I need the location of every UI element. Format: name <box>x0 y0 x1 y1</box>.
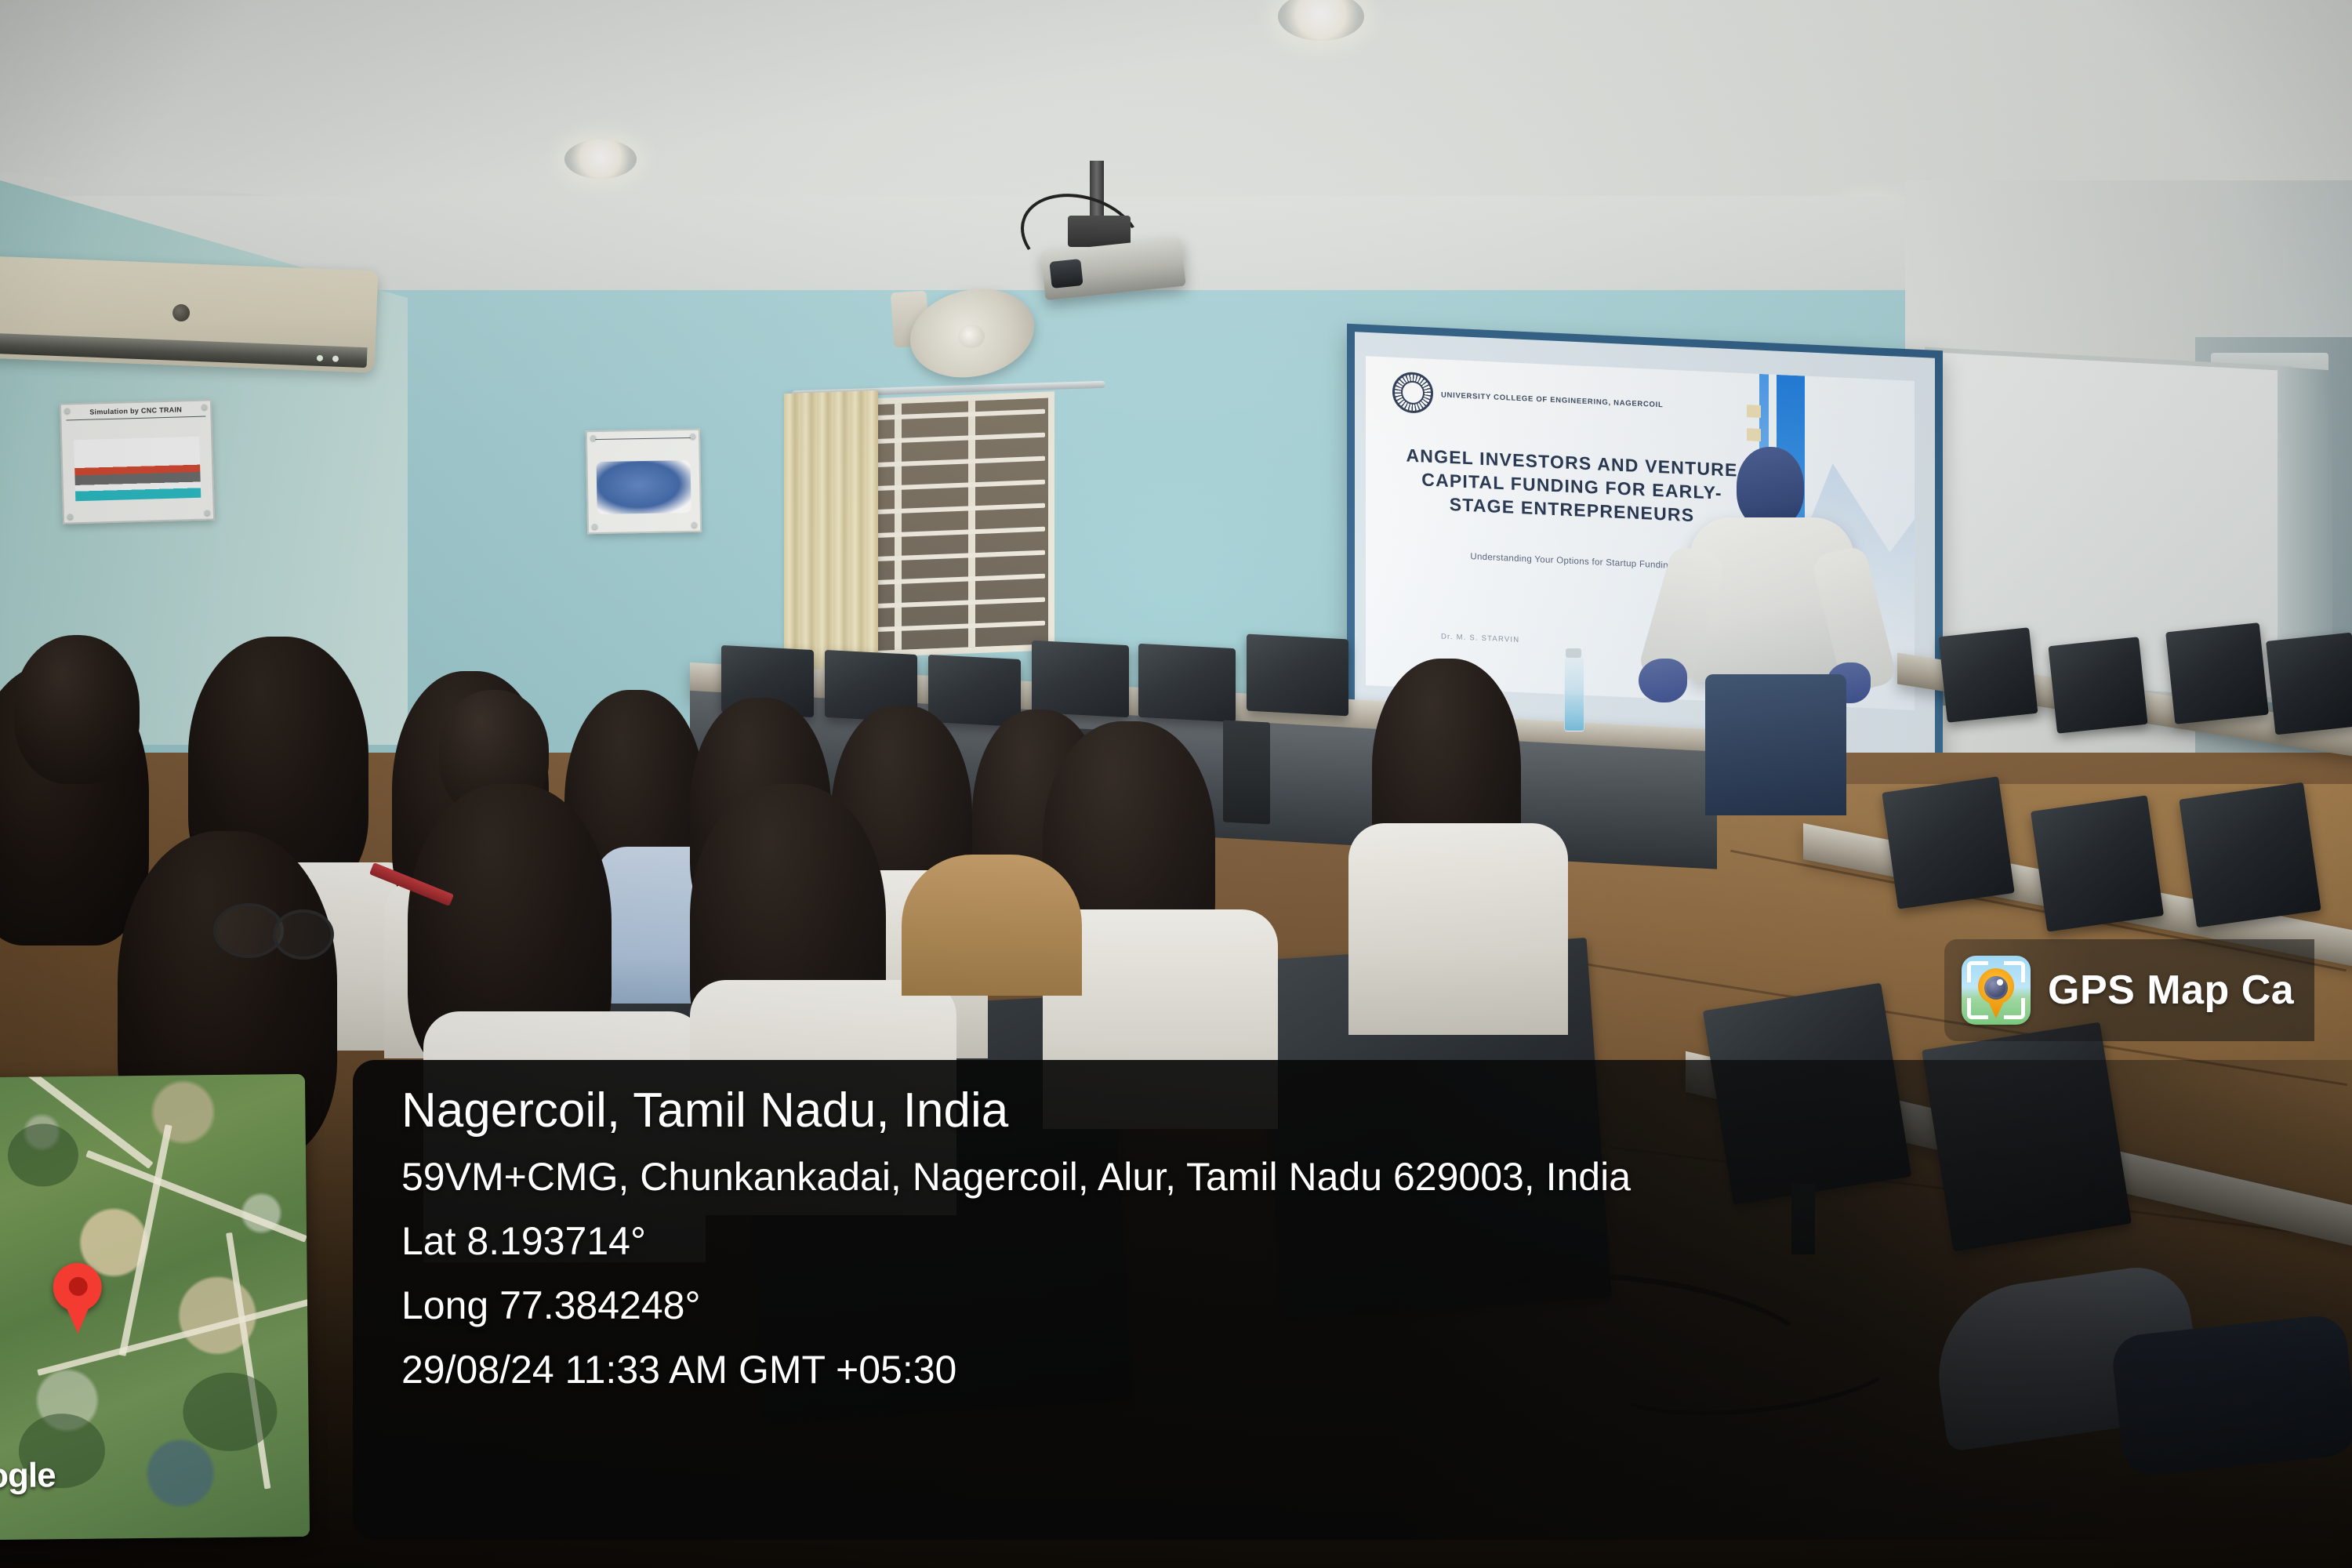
water-bottle-cap <box>1566 648 1581 658</box>
bracket-bottom-left-icon <box>1967 998 1988 1019</box>
monitor <box>2266 633 2352 735</box>
slide-title: ANGEL INVESTORS AND VENTURE CAPITAL FUND… <box>1403 444 1740 529</box>
water-bottle <box>1564 655 1584 731</box>
monitor <box>928 655 1021 727</box>
fan-hub <box>958 325 985 348</box>
gps-info-lines: Nagercoil, Tamil Nadu, India 59VM+CMG, C… <box>401 1087 2352 1414</box>
camera-lens-icon <box>1984 976 2008 1000</box>
presenter-legs <box>1705 674 1846 815</box>
curtain <box>784 390 878 684</box>
chair <box>902 855 1082 996</box>
monitor <box>2165 622 2269 724</box>
college-logo-icon <box>1392 372 1433 414</box>
screenshot-root: Simulation by CNC TRAIN <box>0 0 2352 1568</box>
computer-tower <box>1223 720 1270 824</box>
monitor <box>1939 627 2038 723</box>
poster-image <box>597 460 691 514</box>
location-address-line: 59VM+CMG, Chunkankadai, Nagercoil, Alur,… <box>401 1157 2352 1196</box>
poster-image <box>74 437 201 501</box>
monitor <box>2048 637 2147 734</box>
location-pin-center-icon <box>69 1277 88 1296</box>
audience-torso-front <box>1348 823 1568 1035</box>
poster-rule <box>66 416 205 421</box>
monitor <box>2031 795 2164 931</box>
poster-clip <box>592 524 597 529</box>
monitor <box>1032 641 1129 717</box>
poster-clip <box>205 510 210 515</box>
poster-clip <box>67 514 73 519</box>
poster-rule <box>592 437 694 440</box>
slide-institution: UNIVERSITY COLLEGE OF ENGINEERING, NAGER… <box>1441 390 1663 409</box>
slide-square <box>1747 428 1761 441</box>
poster-title: Simulation by CNC TRAIN <box>61 401 210 416</box>
presenter-hand-left <box>1639 659 1687 702</box>
gps-info-panel: Nagercoil, Tamil Nadu, India 59VM+CMG, C… <box>353 1060 2352 1540</box>
audience-person <box>14 635 140 784</box>
map-thumbnail[interactable]: oogle <box>0 1074 310 1540</box>
longitude-line: Long 77.384248° <box>401 1286 2352 1325</box>
slide-author: Dr. M. S. STARVIN <box>1441 632 1519 644</box>
eyeglasses-icon <box>273 909 334 960</box>
latitude-line: Lat 8.193714° <box>401 1221 2352 1261</box>
timestamp-line: 29/08/24 11:33 AM GMT +05:30 <box>401 1350 2352 1389</box>
monitor <box>1882 776 2014 909</box>
wall-poster-cnc: Simulation by CNC TRAIN <box>60 399 215 524</box>
slide-square <box>1747 405 1761 418</box>
presenter-head <box>1737 447 1804 528</box>
monitor <box>2179 782 2321 928</box>
bracket-bottom-right-icon <box>2004 998 2025 1019</box>
lens-glint-icon <box>1997 979 2003 985</box>
wall-poster-secondary <box>586 429 702 535</box>
poster-title <box>587 430 699 436</box>
air-conditioner <box>0 256 378 372</box>
monitor <box>1247 634 1348 717</box>
gps-map-camera-icon <box>1962 956 2031 1025</box>
poster-clip <box>590 435 596 441</box>
projector-lens <box>1049 259 1083 289</box>
poster-clip <box>690 434 695 439</box>
location-city-line: Nagercoil, Tamil Nadu, India <box>401 1087 2352 1135</box>
projector-mount <box>1068 216 1131 247</box>
google-attribution: oogle <box>0 1456 56 1496</box>
gps-app-name: GPS Map Ca <box>2048 967 2294 1014</box>
gps-map-camera-watermark: GPS Map Ca <box>1944 939 2314 1041</box>
ac-knob <box>172 304 191 322</box>
poster-clip <box>691 522 697 528</box>
monitor <box>1138 644 1236 722</box>
ceiling-light <box>564 140 637 179</box>
college-logo-core <box>1401 380 1425 405</box>
